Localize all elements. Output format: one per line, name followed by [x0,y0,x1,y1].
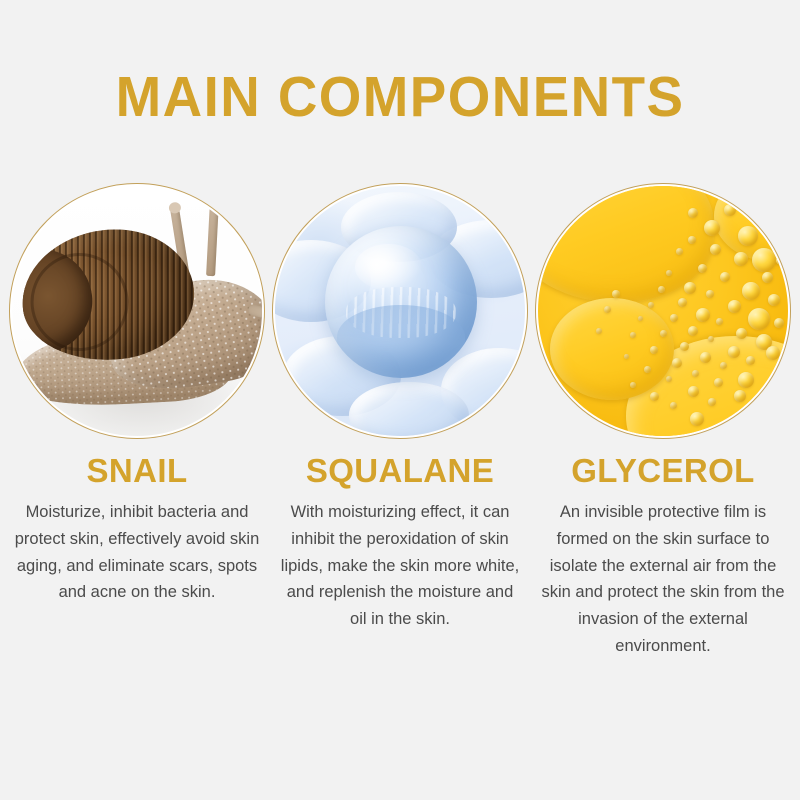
oil-bubble [724,204,736,216]
oil-bubble [696,308,710,322]
oil-bubble [708,336,714,342]
components-row: SNAIL Moisturize, inhibit bacteria and p… [0,183,800,660]
oil-illustration [538,186,788,436]
component-description-snail: Moisturize, inhibit bacteria and protect… [14,499,260,606]
blue-sphere [325,226,477,378]
oil-bubble [644,366,651,373]
oil-bubble [692,370,699,377]
component-heading-squalane: SQUALANE [306,453,494,489]
oil-bubble [680,342,689,351]
blue-sphere-photo [272,183,528,439]
oil-bubble [624,354,629,359]
oil-bubble [688,236,696,244]
oil-bubble [752,248,776,272]
oil-bubble [720,272,730,282]
oil-bubble [688,208,698,218]
component-description-squalane: With moisturizing effect, it can inhibit… [277,499,523,633]
oil-droplet-large [714,186,788,262]
sphere-refraction [346,287,455,339]
oil-bubble [676,248,683,255]
oil-bubble [666,270,672,276]
oil-bubble [728,346,740,358]
oil-bubble [596,328,602,334]
oil-bubble [746,356,755,365]
component-card-glycerol: GLYCEROL An invisible protective film is… [534,183,792,660]
oil-bubble [700,352,711,363]
oil-bubble [650,392,659,401]
oil-bubble [754,208,763,217]
oil-bubble [660,330,667,337]
oil-bubble [734,252,748,266]
oil-bubble [684,282,696,294]
oil-bubble [716,318,723,325]
oil-bubble [638,316,643,321]
component-heading-snail: SNAIL [87,453,188,489]
component-description-glycerol: An invisible protective film is formed o… [540,499,786,659]
oil-bubble [714,378,723,387]
oil-bubble [734,390,746,402]
oil-bubble [768,294,780,306]
snail-illustration [12,186,262,436]
oil-bubble [658,286,665,293]
oil-bubble [762,272,773,283]
oil-bubble [742,282,760,300]
glass-beads-illustration [275,186,525,436]
oil-bubble [720,362,727,369]
snail-tentacle-right [206,202,219,276]
oil-bubble [648,302,654,308]
component-heading-glycerol: GLYCEROL [571,453,755,489]
oil-bubble [672,358,682,368]
oil-bubble [774,318,784,328]
oil-bubble [736,328,747,339]
oil-bubble [670,402,677,409]
component-card-squalane: SQUALANE With moisturizing effect, it ca… [271,183,529,660]
oil-bubble [708,398,716,406]
oil-bubble [738,226,758,246]
snail-photo-inner [12,186,262,436]
oil-bubble [630,332,636,338]
oil-bubble [666,376,672,382]
oil-bubble [688,326,698,336]
blue-sphere-photo-inner [275,186,525,436]
oil-bubble [776,256,785,265]
oil-bubble [766,346,780,360]
snail-shell-whorl [26,248,134,356]
snail-photo [9,183,265,439]
golden-oil-photo [535,183,791,439]
golden-oil-photo-inner [538,186,788,436]
oil-bubble [706,290,714,298]
oil-bubble [748,308,770,330]
oil-bubble [630,382,636,388]
snail-shell [16,221,201,368]
oil-bubble [650,346,658,354]
oil-bubble [688,386,699,397]
oil-bubble [728,300,741,313]
oil-bubble [704,220,720,236]
oil-bubble [690,412,704,426]
infographic-page: MAIN COMPONENTS SNA [0,0,800,800]
oil-bubble [710,244,721,255]
oil-bubble [738,372,754,388]
oil-bubble [770,232,783,245]
oil-bubble [604,306,611,313]
page-title: MAIN COMPONENTS [16,68,784,128]
oil-bubble [612,290,620,298]
oil-bubble [670,314,678,322]
oil-bubble [678,298,687,307]
oil-bubble [698,264,707,273]
component-card-snail: SNAIL Moisturize, inhibit bacteria and p… [8,183,266,660]
